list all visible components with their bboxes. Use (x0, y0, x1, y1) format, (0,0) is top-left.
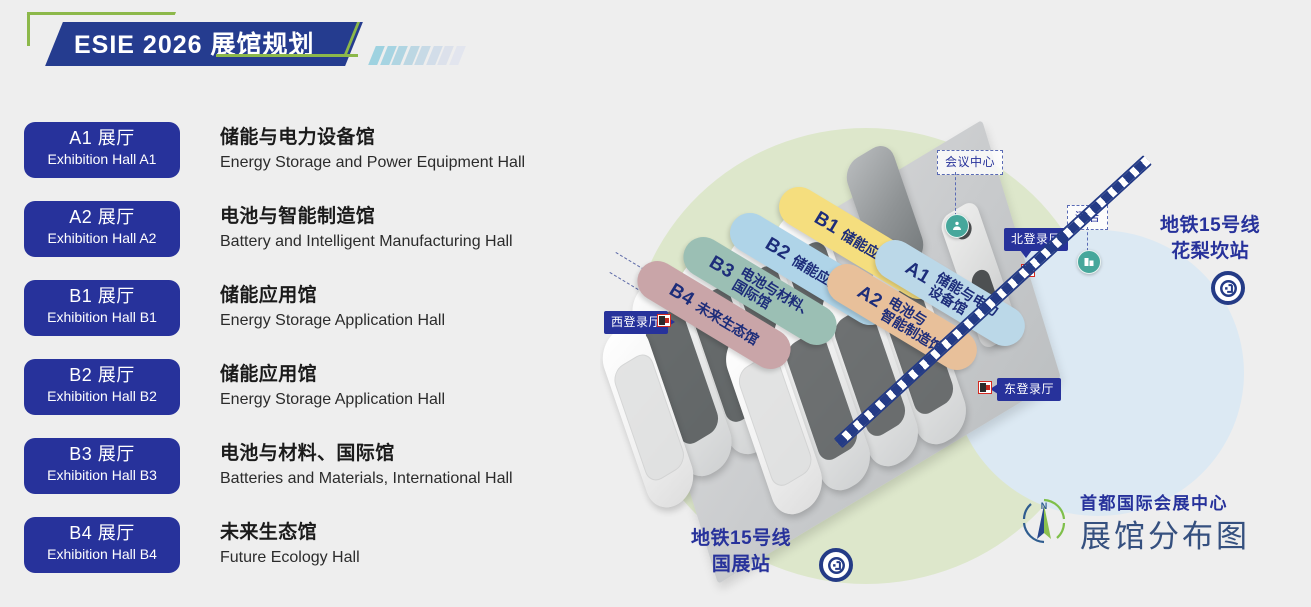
badge-label-cn: A2 展厅 (24, 206, 180, 229)
metro-station-name: 国展站 (691, 552, 791, 578)
hall-badge-b3[interactable]: B3 展厅 Exhibition Hall B3 (24, 438, 180, 494)
compass-icon: N (1018, 495, 1070, 547)
badge-label-cn: B3 展厅 (24, 443, 180, 466)
list-item[interactable]: B4 展厅 Exhibition Hall B4 未来生态馆 Future Ec… (24, 517, 604, 587)
metro-label-hualikan: 地铁15号线 花梨坎站 (1160, 213, 1260, 265)
brand-line-2: 展馆分布图 (1080, 511, 1250, 556)
badge-label-en: Exhibition Hall B2 (24, 387, 180, 406)
hall-name-cn: 储能应用馆 (220, 361, 445, 388)
hall-name-cn: 电池与材料、国际馆 (220, 440, 513, 467)
entrance-icon-east (978, 381, 992, 394)
badge-label-en: Exhibition Hall B3 (24, 466, 180, 485)
poi-label-conference-center[interactable]: 会议中心 (937, 150, 1003, 175)
plate-id: B4 (665, 279, 698, 311)
list-item[interactable]: B2 展厅 Exhibition Hall B2 储能应用馆 Energy St… (24, 359, 604, 429)
plate-id: B3 (705, 252, 738, 284)
badge-label-en: Exhibition Hall B4 (24, 545, 180, 564)
conference-icon (945, 214, 969, 238)
hall-badge-b1[interactable]: B1 展厅 Exhibition Hall B1 (24, 280, 180, 336)
hotel-icon (1077, 250, 1101, 274)
hall-description-b4: 未来生态馆 Future Ecology Hall (220, 519, 360, 570)
metro-label-guozhan: 地铁15号线 国展站 (691, 526, 791, 578)
metro-line-name: 地铁15号线 (691, 526, 791, 552)
hall-badge-a2[interactable]: A2 展厅 Exhibition Hall A2 (24, 201, 180, 257)
brand-logo: N 首都国际会展中心 展馆分布图 (1018, 485, 1298, 555)
hall-description-b2: 储能应用馆 Energy Storage Application Hall (220, 361, 445, 412)
badge-label-cn: A1 展厅 (24, 127, 180, 150)
metro-station-name: 花梨坎站 (1160, 239, 1260, 265)
hall-name-en: Energy Storage Application Hall (220, 388, 445, 412)
list-item[interactable]: A2 展厅 Exhibition Hall A2 电池与智能制造馆 Batter… (24, 201, 604, 271)
metro-station-icon-hualikan[interactable] (1211, 271, 1245, 305)
badge-label-cn: B1 展厅 (24, 285, 180, 308)
metro-line-name: 地铁15号线 (1160, 213, 1260, 239)
hall-name-en: Energy Storage Application Hall (220, 309, 445, 333)
page-title: ESIE 2026 展馆规划 (74, 26, 374, 64)
entrance-label-east[interactable]: 东登录厅 (997, 378, 1061, 401)
hall-name-cn: 储能应用馆 (220, 282, 445, 309)
entrance-icon-west (657, 314, 671, 327)
hall-badge-a1[interactable]: A1 展厅 Exhibition Hall A1 (24, 122, 180, 178)
badge-label-cn: B4 展厅 (24, 522, 180, 545)
hall-name-cn: 储能与电力设备馆 (220, 124, 525, 151)
plate-id: A1 (901, 257, 934, 289)
list-item[interactable]: B3 展厅 Exhibition Hall B3 电池与材料、国际馆 Batte… (24, 438, 604, 508)
hall-description-b1: 储能应用馆 Energy Storage Application Hall (220, 282, 445, 333)
venue-map: 安毓街 (600, 0, 1311, 607)
hall-badge-b2[interactable]: B2 展厅 Exhibition Hall B2 (24, 359, 180, 415)
badge-label-en: Exhibition Hall A2 (24, 229, 180, 248)
venue-3d-model: B1 储能应用馆 B2 储能应用馆 B3 电池与材料、 国际馆 B4 未来生态馆… (628, 145, 1148, 505)
hall-legend-list: A1 展厅 Exhibition Hall A1 储能与电力设备馆 Energy… (24, 122, 604, 596)
badge-label-en: Exhibition Hall B1 (24, 308, 180, 327)
page-header-banner: ESIE 2026 展馆规划 (28, 12, 448, 72)
hall-name-en: Battery and Intelligent Manufacturing Ha… (220, 230, 513, 254)
badge-label-cn: B2 展厅 (24, 364, 180, 387)
banner-accent-bottom (216, 54, 358, 57)
hall-name-en: Energy Storage and Power Equipment Hall (220, 151, 525, 175)
hall-description-b3: 电池与材料、国际馆 Batteries and Materials, Inter… (220, 440, 513, 491)
metro-station-icon-guozhan[interactable] (819, 548, 853, 582)
poi-leader-line-hotel (1087, 227, 1088, 251)
hall-description-a1: 储能与电力设备馆 Energy Storage and Power Equipm… (220, 124, 525, 175)
hall-description-a2: 电池与智能制造馆 Battery and Intelligent Manufac… (220, 203, 513, 254)
plate-id: A2 (853, 281, 886, 313)
plate-id: B1 (810, 207, 843, 239)
list-item[interactable]: B1 展厅 Exhibition Hall B1 储能应用馆 Energy St… (24, 280, 604, 350)
hall-name-en: Future Ecology Hall (220, 546, 360, 570)
hall-name-cn: 未来生态馆 (220, 519, 360, 546)
hall-name-en: Batteries and Materials, International H… (220, 467, 513, 491)
compass-north-letter: N (1041, 501, 1048, 511)
plate-id: B2 (761, 233, 794, 265)
badge-label-en: Exhibition Hall A1 (24, 150, 180, 169)
hall-badge-b4[interactable]: B4 展厅 Exhibition Hall B4 (24, 517, 180, 573)
list-item[interactable]: A1 展厅 Exhibition Hall A1 储能与电力设备馆 Energy… (24, 122, 604, 192)
banner-stripes-decoration (372, 46, 464, 65)
hall-name-cn: 电池与智能制造馆 (220, 203, 513, 230)
poi-leader-line-conference (955, 172, 956, 216)
exhibition-hall-plan-page: ESIE 2026 展馆规划 A1 展厅 Exhibition Hall A1 … (0, 0, 1311, 607)
